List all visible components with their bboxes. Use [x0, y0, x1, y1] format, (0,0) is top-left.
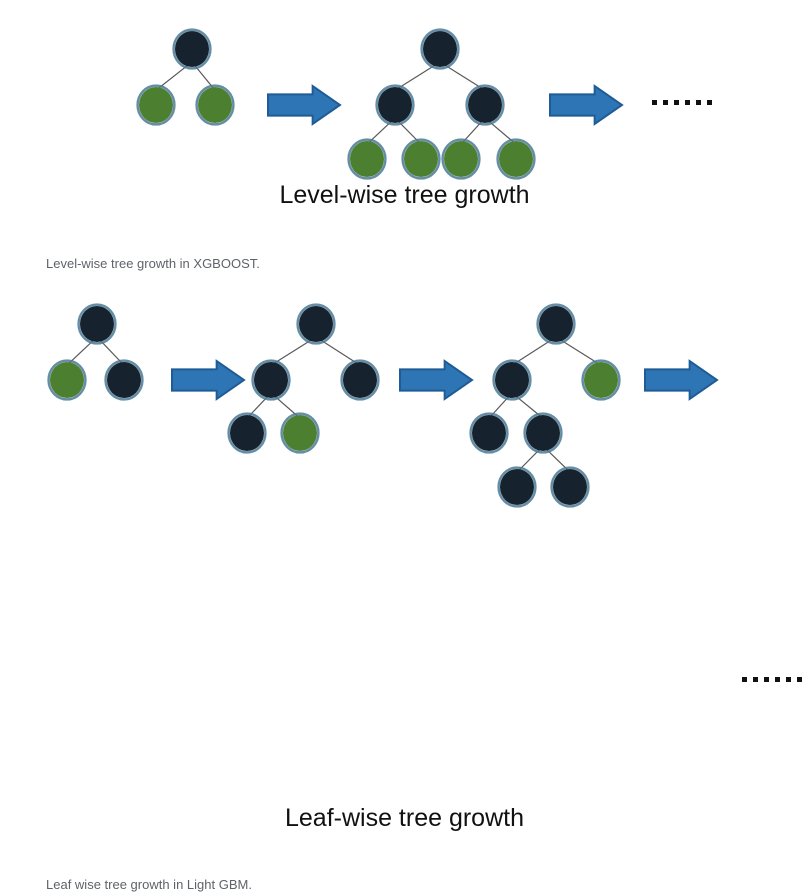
node-body [299, 306, 333, 342]
tree-node-split [471, 414, 508, 453]
tree-node-split [377, 86, 414, 125]
node-body [495, 362, 529, 398]
ellipsis-indicator [742, 677, 802, 682]
tree-node-leaf [443, 140, 480, 179]
ellipsis-dot [652, 100, 657, 105]
tree-node-split [106, 361, 143, 400]
ellipsis-dot [663, 100, 668, 105]
tree-node-split [422, 30, 459, 69]
page-title-level-wise: Level-wise tree growth [0, 180, 809, 210]
node-body [350, 141, 384, 177]
node-body [423, 31, 457, 67]
ellipsis-dot [696, 100, 701, 105]
node-body [468, 87, 502, 123]
node-body [254, 362, 288, 398]
tree-node-leaf [349, 140, 386, 179]
right-arrow-icon [645, 361, 717, 399]
leaf-wise-diagram [0, 295, 809, 525]
node-body [404, 141, 438, 177]
right-arrow-icon [550, 86, 622, 124]
tree-node-split [79, 305, 116, 344]
ellipsis-dot [674, 100, 679, 105]
level-wise-diagram [0, 0, 809, 180]
node-body [107, 362, 141, 398]
tree-node-split [229, 414, 266, 453]
tree-node-leaf [282, 414, 319, 453]
figure-leaf-wise: Leaf-wise tree growth Leaf wise tree gro… [0, 295, 809, 634]
tree-node-split [538, 305, 575, 344]
ellipsis-dot [707, 100, 712, 105]
ellipsis-dot [764, 677, 769, 682]
figure-level-wise: Level-wise tree growth Level-wise tree g… [0, 0, 809, 285]
tree-node-leaf [403, 140, 440, 179]
ellipsis-dot [742, 677, 747, 682]
node-body [378, 87, 412, 123]
node-body [584, 362, 618, 398]
right-arrow-icon [268, 86, 340, 124]
tree-node-split [499, 468, 536, 507]
node-body [139, 87, 173, 123]
ellipsis-dot [685, 100, 690, 105]
ellipsis-dot [786, 677, 791, 682]
node-body [553, 469, 587, 505]
tree-node-leaf [498, 140, 535, 179]
node-body [539, 306, 573, 342]
caption-level-wise: Level-wise tree growth in XGBOOST. [46, 255, 260, 273]
node-body [50, 362, 84, 398]
right-arrow-icon [172, 361, 244, 399]
ellipsis-dot [775, 677, 780, 682]
caption-leaf-wise: Leaf wise tree growth in Light GBM. [46, 876, 252, 894]
page-title-leaf-wise: Leaf-wise tree growth [0, 803, 809, 833]
tree-node-split [552, 468, 589, 507]
tree-node-split [253, 361, 290, 400]
node-body [343, 362, 377, 398]
ellipsis-indicator [652, 100, 712, 105]
right-arrow-icon [400, 361, 472, 399]
ellipsis-dot [797, 677, 802, 682]
tree-node-split [525, 414, 562, 453]
node-body [175, 31, 209, 67]
tree-node-split [342, 361, 379, 400]
tree-node-leaf [197, 86, 234, 125]
node-body [283, 415, 317, 451]
tree-node-leaf [49, 361, 86, 400]
node-body [499, 141, 533, 177]
node-body [80, 306, 114, 342]
node-body [526, 415, 560, 451]
node-body [198, 87, 232, 123]
tree-node-split [174, 30, 211, 69]
tree-node-split [467, 86, 504, 125]
tree-node-split [494, 361, 531, 400]
node-body [230, 415, 264, 451]
tree-node-split [298, 305, 335, 344]
node-body [444, 141, 478, 177]
node-body [500, 469, 534, 505]
ellipsis-dot [753, 677, 758, 682]
node-body [472, 415, 506, 451]
tree-node-leaf [138, 86, 175, 125]
tree-node-leaf [583, 361, 620, 400]
